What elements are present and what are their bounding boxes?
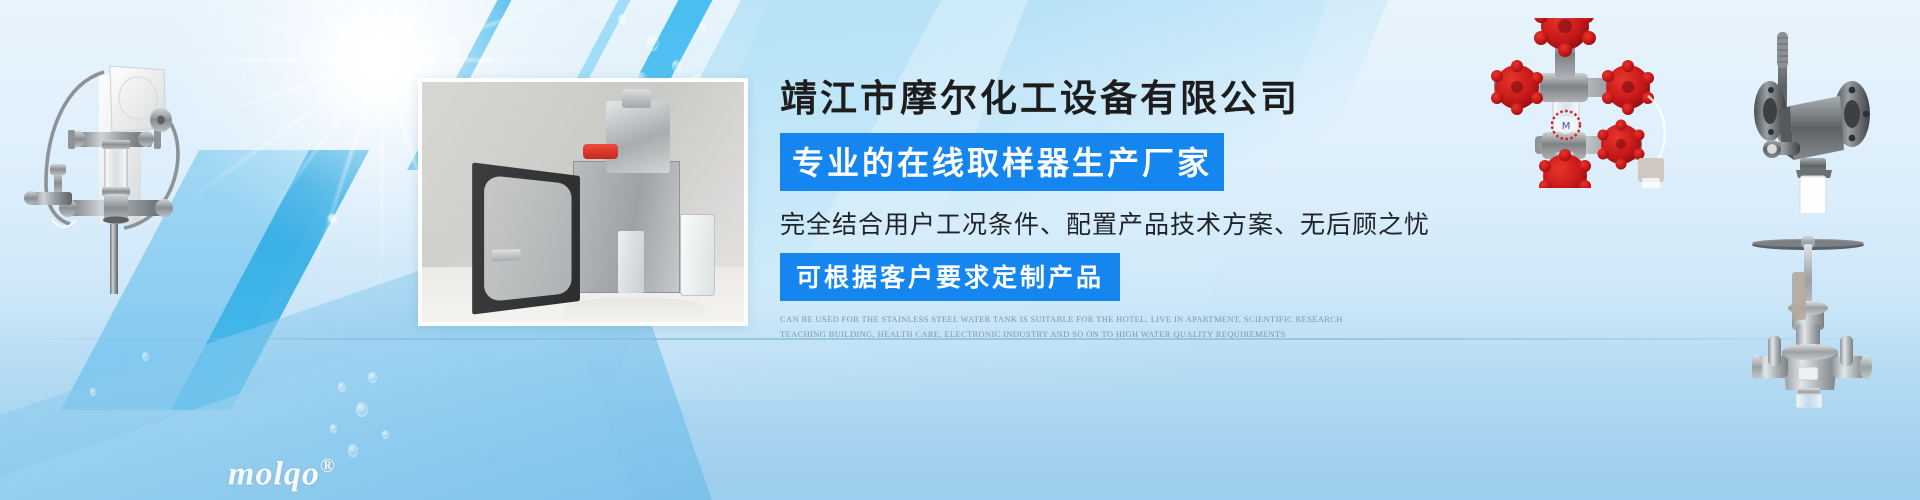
product-handwheel-gate-valve <box>1752 228 1918 408</box>
english-description: Can be used for the stainless steel wate… <box>780 312 1380 342</box>
water-droplet-icon <box>356 402 368 417</box>
water-droplet-icon <box>90 388 96 396</box>
svg-text:M: M <box>1562 121 1571 132</box>
watermark-text: molqo <box>228 455 320 492</box>
registered-mark-icon: ® <box>320 455 336 477</box>
tagline-badge: 专业的在线取样器生产厂家 <box>780 133 1224 191</box>
company-title: 靖江市摩尔化工设备有限公司 <box>780 78 1400 122</box>
product-left-pole-sampler <box>4 24 204 294</box>
water-droplet-icon <box>382 430 389 439</box>
sampling-cabinet-photo <box>422 82 744 322</box>
subline-text: 完全结合用户工况条件、配置产品技术方案、无后顾之忧 <box>780 205 1400 241</box>
brand-watermark: molqo® <box>228 455 336 493</box>
banner-text-block: 靖江市摩尔化工设备有限公司 专业的在线取样器生产厂家 完全结合用户工况条件、配置… <box>780 78 1400 341</box>
water-droplet-icon <box>142 352 149 361</box>
custom-tag-wrapper: 可根据客户要求定制产品 <box>780 253 1400 301</box>
product-red-handwheel-manifold: M <box>1480 18 1710 188</box>
tagline-wrapper: 专业的在线取样器生产厂家 <box>780 133 1400 191</box>
water-droplet-icon <box>646 34 659 51</box>
promo-banner: 靖江市摩尔化工设备有限公司 专业的在线取样器生产厂家 完全结合用户工况条件、配置… <box>0 0 1920 500</box>
water-droplet-icon <box>368 372 377 383</box>
lens-flare-dot-icon <box>328 214 337 223</box>
water-droplet-icon <box>330 424 337 433</box>
custom-product-badge: 可根据客户要求定制产品 <box>780 253 1120 301</box>
water-droplet-icon <box>618 14 626 24</box>
water-droplet-icon <box>338 382 346 392</box>
water-droplet-icon <box>672 60 681 72</box>
water-droplet-icon <box>348 444 358 457</box>
water-droplet-icon <box>700 22 707 31</box>
product-photo-card <box>418 78 748 326</box>
product-flanged-lever-valve <box>1748 18 1920 213</box>
